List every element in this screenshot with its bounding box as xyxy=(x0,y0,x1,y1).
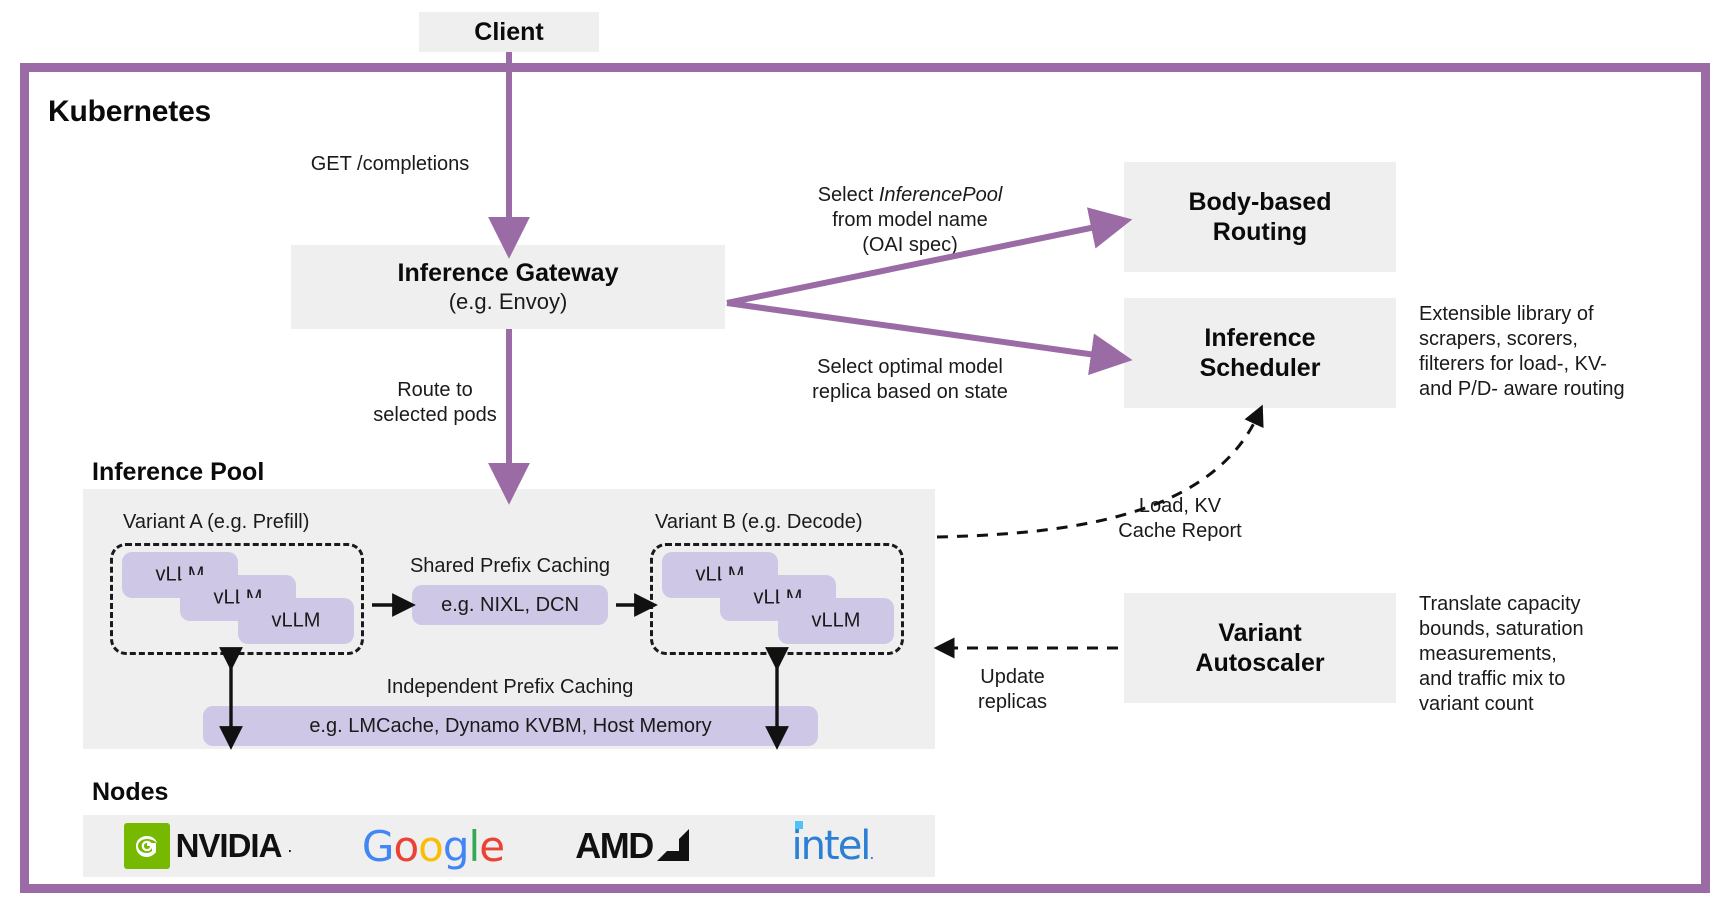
amd-logo: AMD xyxy=(533,825,733,867)
variant-autoscaler-note: Translate capacity bounds, saturation me… xyxy=(1419,592,1719,717)
nodes-heading: Nodes xyxy=(92,778,168,807)
nvidia-logo: NVIDIA . xyxy=(83,823,333,869)
inference-pool-heading: Inference Pool xyxy=(92,458,264,487)
inference-gateway-box[interactable]: Inference Gateway (e.g. Envoy) xyxy=(291,245,725,329)
intel-wordmark: intel xyxy=(792,823,870,869)
intel-dot: . xyxy=(869,843,874,864)
nvidia-wordmark: NVIDIA xyxy=(176,827,282,865)
nvidia-registered-dot: . xyxy=(287,836,292,857)
nodes-strip: NVIDIA . Google AMD intel . xyxy=(83,815,935,877)
select-inferencepool-em: InferencePool xyxy=(879,184,1002,206)
edge-label-select-inferencepool: Select InferencePool from model name (OA… xyxy=(765,158,1055,258)
variant-a-vllm-card-3[interactable]: vLLM xyxy=(238,598,354,644)
intel-i-accent xyxy=(795,821,803,829)
intel-logo: intel . xyxy=(733,823,933,869)
select-inferencepool-pre: Select xyxy=(818,184,879,206)
edge-label-route-to-selected-pods: Route to selected pods xyxy=(345,378,525,428)
independent-prefix-caching-value-pill[interactable]: e.g. LMCache, Dynamo KVBM, Host Memory xyxy=(203,706,818,746)
nvidia-eye-icon xyxy=(124,823,170,869)
inference-gateway-subtitle: (e.g. Envoy) xyxy=(449,288,568,316)
client-box[interactable]: Client xyxy=(419,12,599,52)
amd-wordmark: AMD xyxy=(575,825,652,867)
inference-scheduler-line1: Inference xyxy=(1204,323,1315,353)
inference-scheduler-note: Extensible library of scrapers, scorers,… xyxy=(1419,302,1719,402)
shared-prefix-caching-value-pill[interactable]: e.g. NIXL, DCN xyxy=(412,585,608,625)
shared-prefix-caching-value: e.g. NIXL, DCN xyxy=(441,594,579,617)
edge-label-get-completions: GET /completions xyxy=(280,152,500,177)
variant-autoscaler-box[interactable]: Variant Autoscaler xyxy=(1124,593,1396,703)
variant-a-label: Variant A (e.g. Prefill) xyxy=(123,510,423,535)
select-inferencepool-rest: from model name (OAI spec) xyxy=(832,209,988,256)
inference-gateway-title: Inference Gateway xyxy=(398,258,619,288)
kubernetes-label: Kubernetes xyxy=(48,95,211,129)
body-based-routing-line1: Body-based xyxy=(1188,187,1331,217)
variant-b-label: Variant B (e.g. Decode) xyxy=(655,510,955,535)
variant-b-vllm-card-3[interactable]: vLLM xyxy=(778,598,894,644)
inference-scheduler-line2: Scheduler xyxy=(1200,353,1321,383)
variant-a-vllm-card-3-label: vLLM xyxy=(238,610,354,633)
diagram-canvas: Kubernetes Client Inference Gateway (e.g… xyxy=(0,0,1728,920)
variant-autoscaler-line2: Autoscaler xyxy=(1195,648,1324,678)
google-logo: Google xyxy=(333,822,533,871)
independent-prefix-caching-heading: Independent Prefix Caching xyxy=(340,675,680,700)
edge-label-select-optimal-replica: Select optimal model replica based on st… xyxy=(760,355,1060,405)
shared-prefix-caching-heading: Shared Prefix Caching xyxy=(375,554,645,579)
inference-scheduler-box[interactable]: Inference Scheduler xyxy=(1124,298,1396,408)
body-based-routing-line2: Routing xyxy=(1213,217,1307,247)
variant-autoscaler-line1: Variant xyxy=(1218,618,1301,648)
amd-arrow-icon xyxy=(655,829,691,863)
google-wordmark: Google xyxy=(362,822,504,871)
variant-b-vllm-card-3-label: vLLM xyxy=(778,610,894,633)
edge-label-load-kv-cache-report: Load, KV Cache Report xyxy=(1085,494,1275,544)
independent-prefix-caching-value: e.g. LMCache, Dynamo KVBM, Host Memory xyxy=(309,715,711,738)
edge-label-update-replicas: Update replicas xyxy=(930,665,1095,715)
body-based-routing-box[interactable]: Body-based Routing xyxy=(1124,162,1396,272)
client-label: Client xyxy=(474,17,543,47)
